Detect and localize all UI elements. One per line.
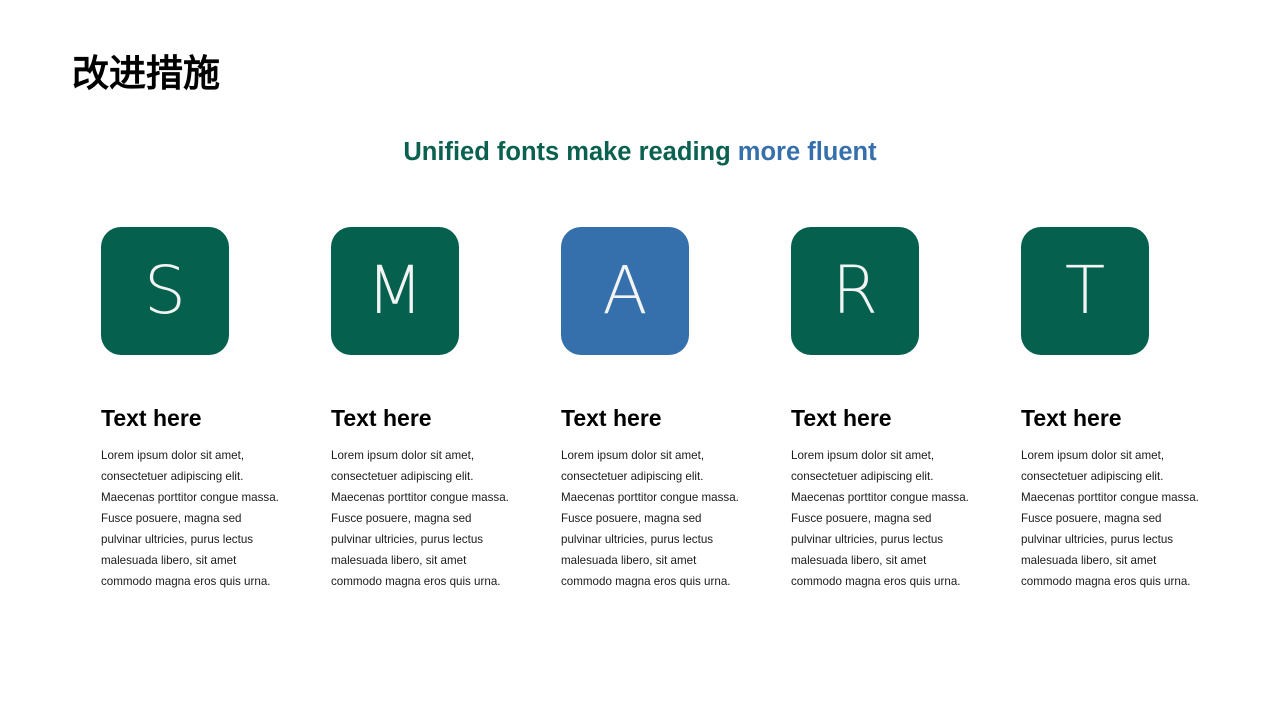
column-heading-r: Text here [791,406,892,431]
column-heading-t: Text here [1021,406,1122,431]
smart-column-t: T Text here Lorem ipsum dolor sit amet, … [1021,227,1149,592]
smart-column-s: S Text here Lorem ipsum dolor sit amet, … [101,227,229,592]
subtitle-segment-accent: more fluent [738,138,877,166]
slide-canvas: 改进措施 Unified fonts make reading more flu… [0,0,1280,720]
letter-tile-m[interactable]: M [331,227,459,355]
letter-tile-s-glyph: S [144,258,186,324]
column-body-s: Lorem ipsum dolor sit amet, consectetuer… [101,445,281,592]
letter-tile-m-glyph: M [367,258,424,324]
column-heading-s: Text here [101,406,202,431]
letter-tile-r-glyph: R [832,258,878,324]
column-heading-m: Text here [331,406,432,431]
subtitle-segment-primary: Unified fonts make reading [403,138,737,166]
column-body-m: Lorem ipsum dolor sit amet, consectetuer… [331,445,511,592]
smart-column-r: R Text here Lorem ipsum dolor sit amet, … [791,227,919,592]
slide-subtitle: Unified fonts make reading more fluent [0,136,1280,169]
smart-columns: S Text here Lorem ipsum dolor sit amet, … [101,227,1191,627]
column-heading-a: Text here [561,406,662,431]
letter-tile-s[interactable]: S [101,227,229,355]
letter-tile-r[interactable]: R [791,227,919,355]
column-body-t: Lorem ipsum dolor sit amet, consectetuer… [1021,445,1201,592]
page-title: 改进措施 [72,52,220,96]
letter-tile-a[interactable]: A [561,227,689,355]
column-body-a: Lorem ipsum dolor sit amet, consectetuer… [561,445,741,592]
column-body-r: Lorem ipsum dolor sit amet, consectetuer… [791,445,971,592]
letter-tile-t-glyph: T [1065,258,1105,324]
letter-tile-a-glyph: A [602,258,647,324]
smart-column-a: A Text here Lorem ipsum dolor sit amet, … [561,227,689,592]
smart-column-m: M Text here Lorem ipsum dolor sit amet, … [331,227,459,592]
letter-tile-t[interactable]: T [1021,227,1149,355]
